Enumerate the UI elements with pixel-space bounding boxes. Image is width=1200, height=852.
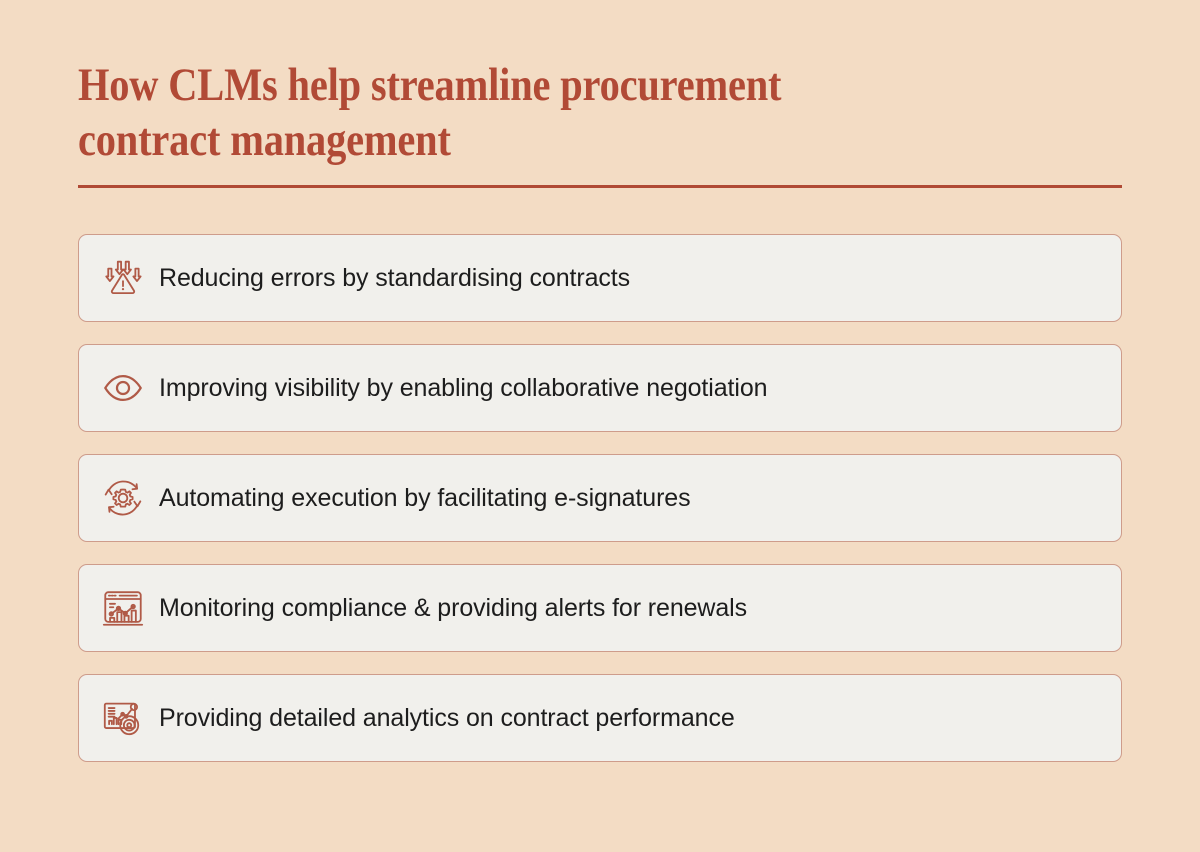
dashboard-bar-line-chart-icon [97, 582, 149, 634]
infographic-canvas: How CLMs help streamline procurement con… [0, 0, 1200, 852]
benefit-card-label: Improving visibility by enabling collabo… [159, 373, 767, 403]
benefit-card-label: Providing detailed analytics on contract… [159, 703, 735, 733]
warning-triangle-down-arrows-icon [97, 252, 149, 304]
benefit-card-label: Automating execution by facilitating e-s… [159, 483, 691, 513]
benefit-card[interactable]: Reducing errors by standardising contrac… [78, 234, 1122, 322]
benefit-card[interactable]: Monitoring compliance & providing alerts… [78, 564, 1122, 652]
title-divider [78, 185, 1122, 188]
header: How CLMs help streamline procurement con… [78, 58, 1122, 169]
benefit-card[interactable]: Providing detailed analytics on contract… [78, 674, 1122, 762]
benefit-card-label: Reducing errors by standardising contrac… [159, 263, 630, 293]
gear-refresh-cycle-icon [97, 472, 149, 524]
analytics-target-chart-icon [97, 692, 149, 744]
eye-icon [97, 362, 149, 414]
benefit-card[interactable]: Improving visibility by enabling collabo… [78, 344, 1122, 432]
page-title: How CLMs help streamline procurement con… [78, 58, 1119, 169]
benefit-card[interactable]: Automating execution by facilitating e-s… [78, 454, 1122, 542]
benefit-card-list: Reducing errors by standardising contrac… [78, 234, 1122, 762]
benefit-card-label: Monitoring compliance & providing alerts… [159, 593, 747, 623]
